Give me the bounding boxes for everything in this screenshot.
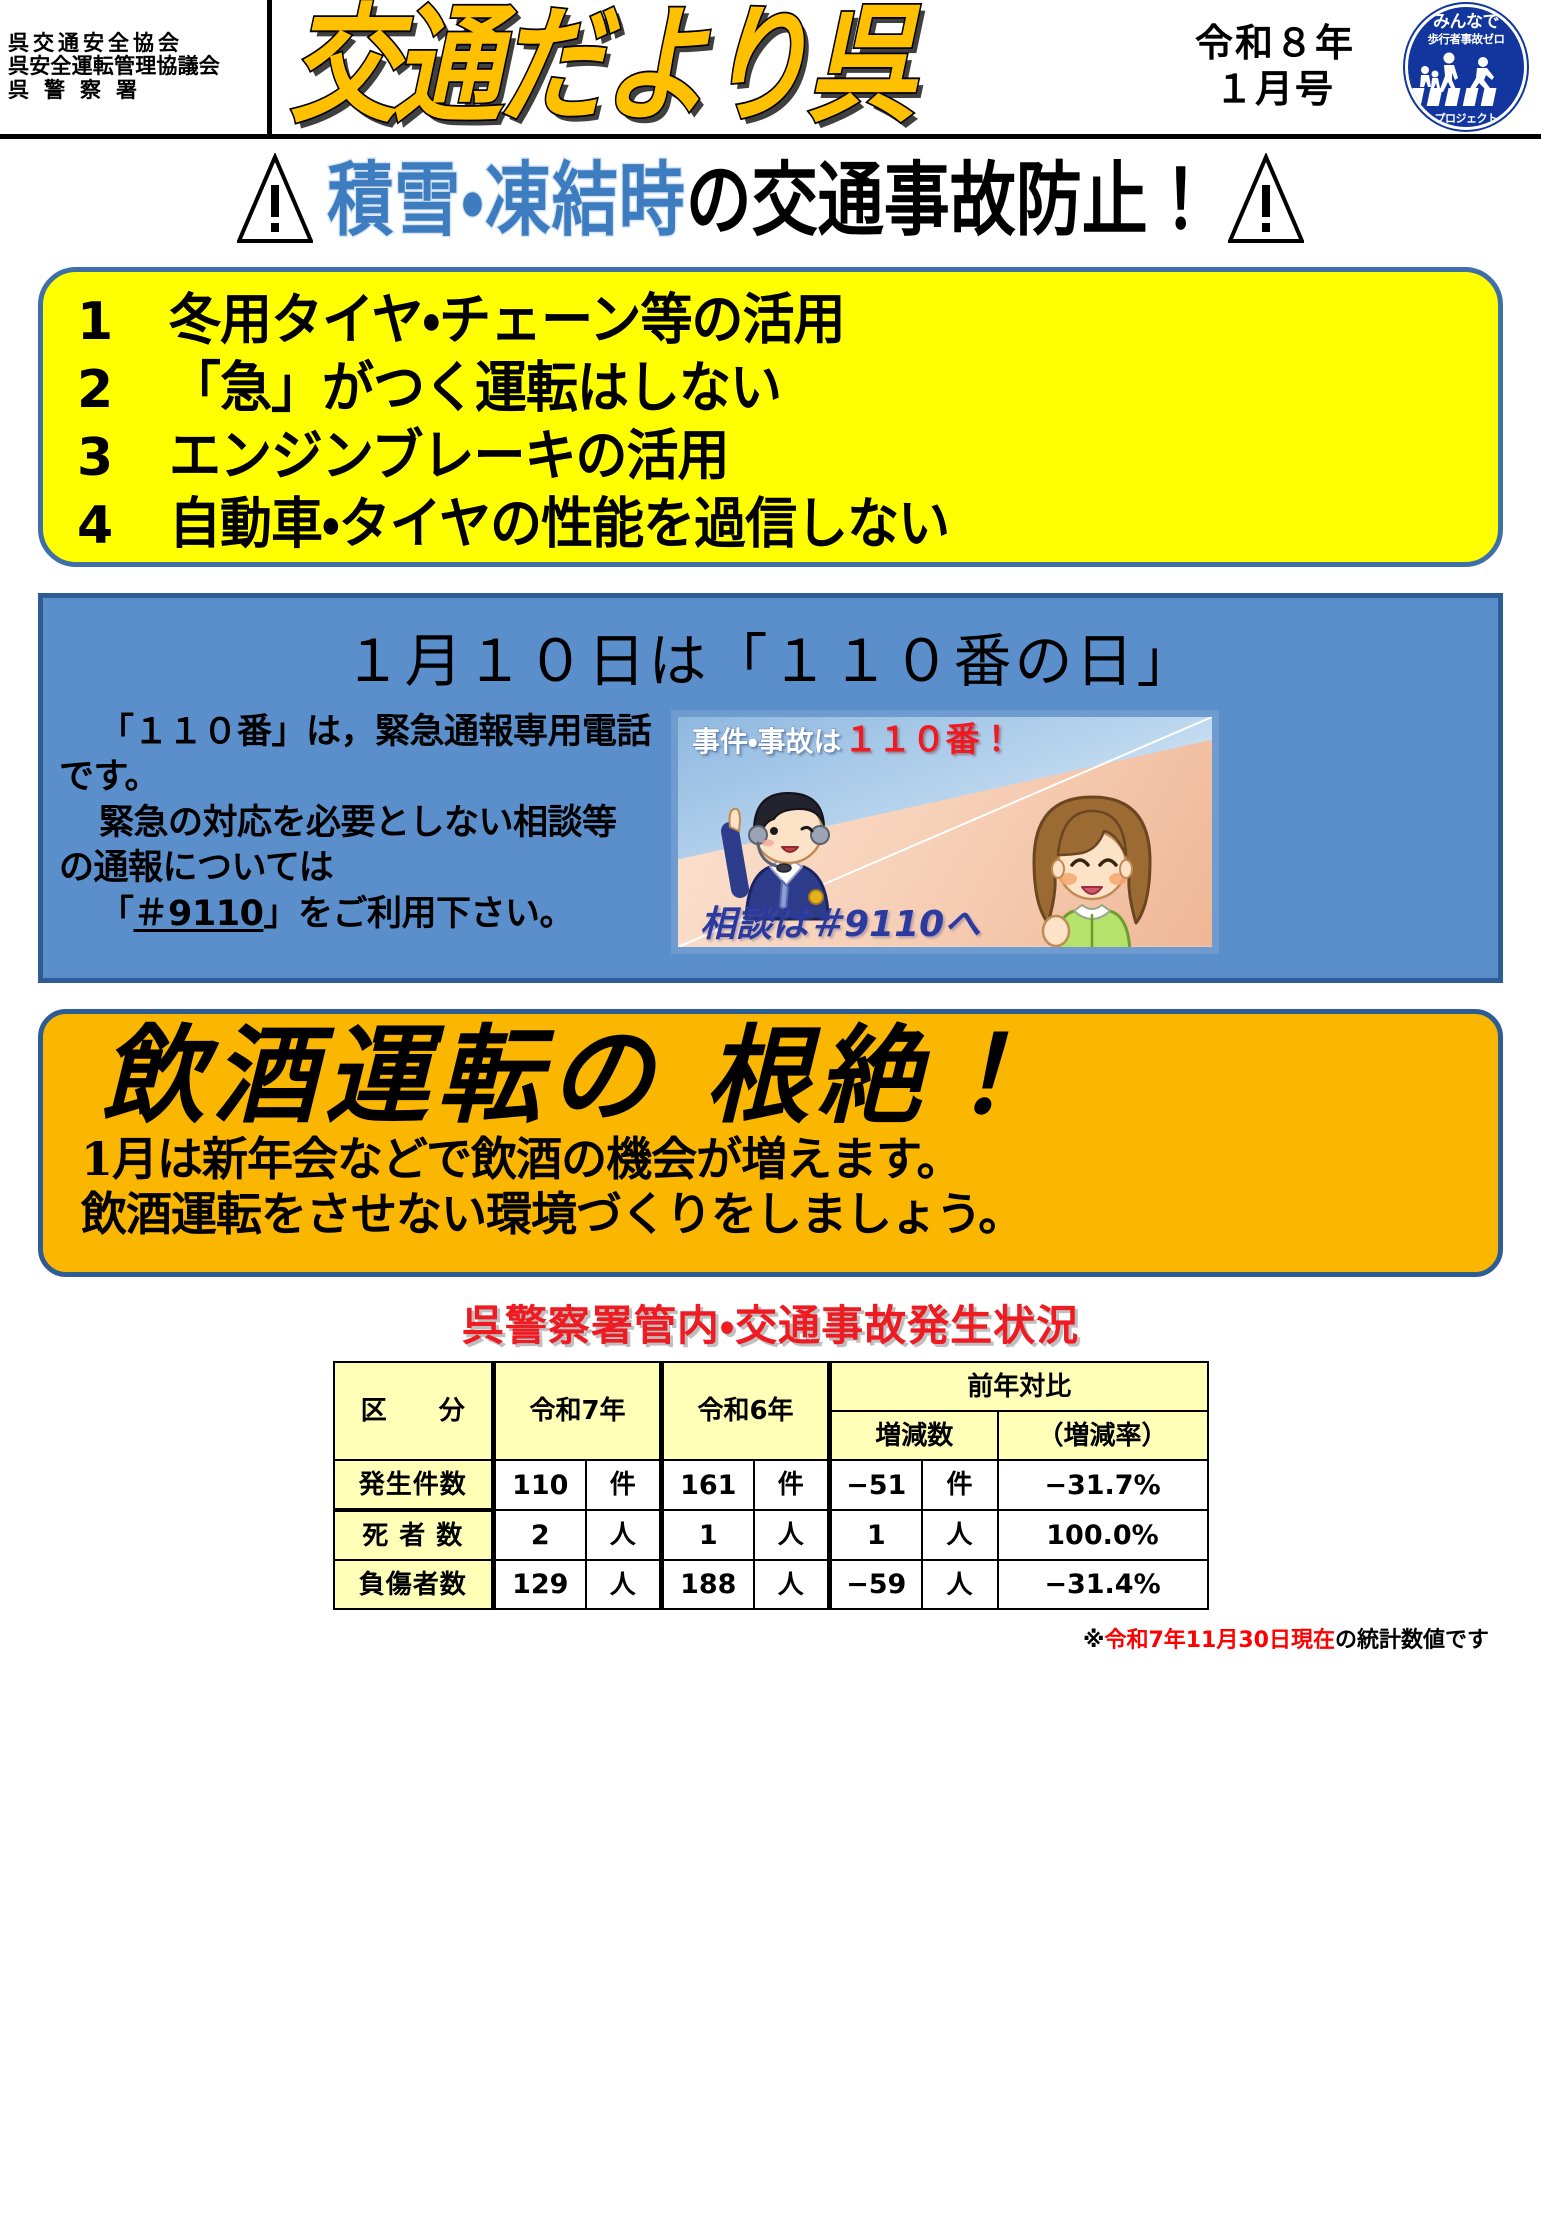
drunk-driving-title: 飲酒運転の 根絶！ <box>67 1019 1474 1134</box>
illustration-caption-white: 事件・事故は <box>692 728 842 756</box>
header-change-count: 増減数 <box>830 1411 998 1460</box>
injured-previous-unit: 人 <box>754 1560 830 1609</box>
header-year-current: 令和7年 <box>494 1362 662 1460</box>
winter-warning-title: 積雪・凍結時 の交通事故防止！ <box>327 161 1213 242</box>
deaths-change-value: 1 <box>830 1510 922 1560</box>
warning-title-highlight: 積雪・凍結時 <box>327 161 685 242</box>
badge-line-3: プロジェクト <box>1435 113 1498 124</box>
injured-change-rate: −31.4% <box>998 1560 1208 1609</box>
winter-warning-heading: 積雪・凍結時 の交通事故防止！ <box>20 145 1521 257</box>
deaths-previous-unit: 人 <box>754 1510 830 1560</box>
header-year-previous: 令和6年 <box>662 1362 830 1460</box>
accidents-change-unit: 件 <box>922 1460 998 1510</box>
injured-current-unit: 人 <box>586 1560 662 1609</box>
badge-line-1: みんなで <box>1433 14 1499 31</box>
warning-triangle-icon-left <box>237 153 313 249</box>
illustration-caption-red: １１０番！ <box>844 723 1014 757</box>
emergency-para-2-cont: の通報については <box>59 848 333 888</box>
masthead: 呉交通安全協会 呉安全運転管理協議会 呉警察署 交通だより呉 令和８年 １月号 … <box>0 0 1541 139</box>
publication-title-text: 交通だより呉 <box>290 3 912 130</box>
illustration-top-caption: 事件・事故は １１０番！ <box>692 723 1014 757</box>
tip-text: エンジンブレーキの活用 <box>169 429 728 484</box>
badge-line-2: 歩行者事故ゼロ <box>1428 34 1505 46</box>
quote-open: 「 <box>99 894 134 934</box>
table-row: 死 者 数 2 人 1 人 1 人 100.0% <box>334 1510 1208 1560</box>
table-row: 発生件数 110 件 161 件 −51 件 −31.7% <box>334 1460 1208 1510</box>
row-label-injured: 負傷者数 <box>334 1560 494 1609</box>
row-label-accidents: 発生件数 <box>334 1460 494 1510</box>
row-label-deaths: 死 者 数 <box>334 1510 494 1560</box>
tip-text: 冬用タイヤ・チェーン等の活用 <box>169 293 845 348</box>
warning-triangle-icon-right <box>1228 153 1304 249</box>
organization-name-3: 呉警察署 <box>8 79 261 103</box>
tip-number: 4 <box>77 500 169 552</box>
accidents-previous-value: 161 <box>662 1460 754 1510</box>
injured-previous-value: 188 <box>662 1560 754 1609</box>
accidents-current-value: 110 <box>494 1460 586 1510</box>
tip-text: 自動車・タイヤの性能を過信しない <box>169 497 949 552</box>
footnote-mark: ※ <box>1083 1628 1104 1653</box>
drunk-driving-line-2: 飲酒運転をさせない環境づくりをしましょう。 <box>67 1187 1474 1241</box>
project-badge: みんなで 歩行者事故ゼロ <box>1391 0 1541 134</box>
accident-stats-table-wrap: 区 分 令和7年 令和6年 前年対比 増減数 （増減率） 発生件数 110 件 … <box>20 1361 1521 1610</box>
tip-item: 4 自動車・タイヤの性能を過信しない <box>77 500 1488 568</box>
issue-month: １月号 <box>1215 68 1335 112</box>
issue-date: 令和８年 １月号 <box>1159 0 1391 134</box>
injured-change-unit: 人 <box>922 1560 998 1609</box>
footnote-date: 令和7年11月30日現在 <box>1104 1628 1335 1653</box>
organization-list: 呉交通安全協会 呉安全運転管理協議会 呉警察署 <box>0 0 272 134</box>
issue-year: 令和８年 <box>1195 22 1355 66</box>
emergency-para-1: 「１１０番」は，緊急通報専用電話 <box>59 710 659 756</box>
deaths-current-unit: 人 <box>586 1510 662 1560</box>
tip-number: 3 <box>77 432 169 484</box>
header-division: 区 分 <box>334 1362 494 1460</box>
emergency-illustration: 事件・事故は １１０番！ <box>671 710 1219 954</box>
stats-footnote: ※令和7年11月30日現在の統計数値です <box>20 1622 1521 1654</box>
accidents-change-rate: −31.7% <box>998 1460 1208 1510</box>
emergency-para-3: 「＃9110」をご利用下さい。 <box>59 892 659 938</box>
tip-text: 「急」がつく運転はしない <box>169 361 781 416</box>
header-comparison: 前年対比 <box>830 1362 1208 1411</box>
tip-item: 2 「急」がつく運転はしない <box>77 364 1488 432</box>
warning-title-rest: の交通事故防止！ <box>686 161 1214 242</box>
publication-title: 交通だより呉 <box>272 0 1159 134</box>
drunk-driving-box: 飲酒運転の 根絶！ 1月は新年会などで飲酒の機会が増えます。 飲酒運転をさせない… <box>38 1009 1503 1277</box>
winter-tips-box: 1 冬用タイヤ・チェーン等の活用 2 「急」がつく運転はしない 3 エンジンブレ… <box>38 267 1503 567</box>
emergency-content: 「１１０番」は，緊急通報専用電話 です。 緊急の対応を必要としない相談等 の通報… <box>43 694 1498 954</box>
injured-change-value: −59 <box>830 1560 922 1609</box>
injured-current-value: 129 <box>494 1560 586 1609</box>
pedestrian-crosswalk-icon <box>1411 48 1521 110</box>
quote-close-and-rest: 」をご利用下さい。 <box>263 894 574 934</box>
illustration-bottom-caption: 相談は＃9110へ <box>700 907 980 943</box>
tip-item: 1 冬用タイヤ・チェーン等の活用 <box>77 296 1488 364</box>
deaths-current-value: 2 <box>494 1510 586 1560</box>
tip-number: 2 <box>77 364 169 416</box>
emergency-number-box: １月１０日は「１１０番の日」 「１１０番」は，緊急通報専用電話 です。 緊急の対… <box>38 593 1503 983</box>
emergency-para-1-cont: です。 <box>59 757 159 797</box>
organization-name-2: 呉安全運転管理協議会 <box>8 55 261 79</box>
header-change-rate: （増減率） <box>998 1411 1208 1460</box>
deaths-change-rate: 100.0% <box>998 1510 1208 1560</box>
deaths-change-unit: 人 <box>922 1510 998 1560</box>
accidents-change-value: −51 <box>830 1460 922 1510</box>
emergency-description: 「１１０番」は，緊急通報専用電話 です。 緊急の対応を必要としない相談等 の通報… <box>59 710 659 938</box>
woman-icon <box>1008 789 1176 954</box>
accidents-current-unit: 件 <box>586 1460 662 1510</box>
tip-number: 1 <box>77 296 169 348</box>
tip-item: 3 エンジンブレーキの活用 <box>77 432 1488 500</box>
table-header-row-1: 区 分 令和7年 令和6年 前年対比 <box>334 1362 1208 1411</box>
table-row: 負傷者数 129 人 188 人 −59 人 −31.4% <box>334 1560 1208 1609</box>
accident-stats-table: 区 分 令和7年 令和6年 前年対比 増減数 （増減率） 発生件数 110 件 … <box>333 1361 1209 1610</box>
organization-name-1: 呉交通安全協会 <box>8 32 261 56</box>
accident-stats-title: 呉警察署管内・交通事故発生状況 <box>20 1303 1521 1349</box>
accidents-previous-unit: 件 <box>754 1460 830 1510</box>
footnote-rest: の統計数値です <box>1335 1628 1489 1653</box>
drunk-driving-line-1: 1月は新年会などで飲酒の機会が増えます。 <box>67 1132 1474 1186</box>
police-consultation-number: ＃9110 <box>134 894 264 934</box>
pedestrian-zero-badge: みんなで 歩行者事故ゼロ <box>1405 4 1527 130</box>
emergency-heading: １月１０日は「１１０番の日」 <box>43 612 1498 694</box>
emergency-para-2: 緊急の対応を必要としない相談等 <box>59 801 659 847</box>
page-body: 積雪・凍結時 の交通事故防止！ 1 冬用タイヤ・チェーン等の活用 2 「急」がつ… <box>0 145 1541 1654</box>
deaths-previous-value: 1 <box>662 1510 754 1560</box>
